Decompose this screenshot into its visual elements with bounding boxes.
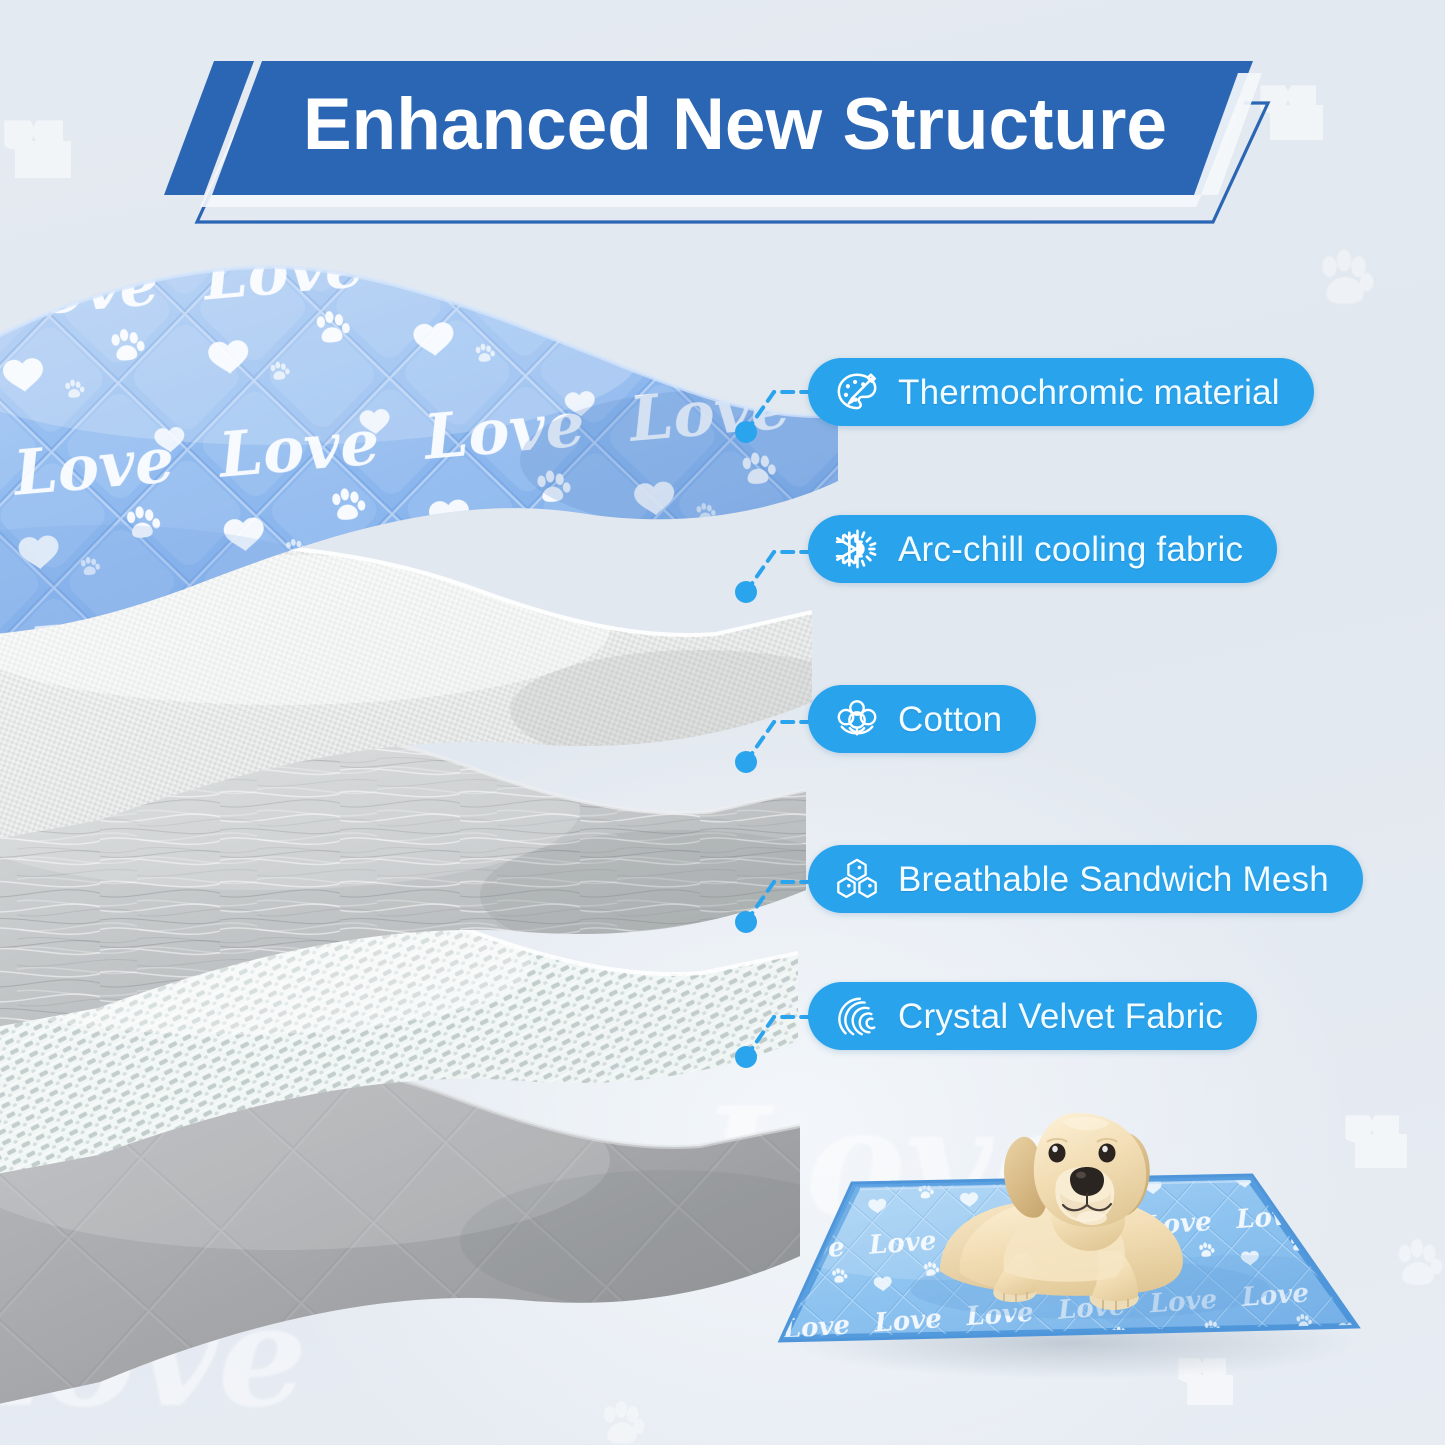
callout-label: Breathable Sandwich Mesh bbox=[898, 862, 1329, 897]
infographic-canvas: Love Love Enhanced New Structure bbox=[0, 0, 1445, 1445]
callout-crystal-velvet[interactable]: Crystal Velvet Fabric bbox=[808, 982, 1257, 1050]
puppy-head bbox=[1004, 1113, 1150, 1227]
product-photo-dog-on-mat: Love bbox=[760, 1075, 1445, 1445]
callout-label: Cotton bbox=[898, 702, 1002, 737]
callout-label: Arc-chill cooling fabric bbox=[898, 532, 1243, 567]
paw-watermark bbox=[1312, 246, 1378, 312]
callout-label: Thermochromic material bbox=[898, 375, 1280, 410]
cotton-boll-icon bbox=[834, 696, 880, 742]
callout-label: Crystal Velvet Fabric bbox=[898, 999, 1223, 1034]
swirl-icon bbox=[834, 993, 880, 1039]
eye-right bbox=[1099, 1144, 1116, 1163]
header-banner: Enhanced New Structure bbox=[0, 55, 1445, 230]
honeycomb-icon bbox=[834, 856, 880, 902]
callout-cotton[interactable]: Cotton bbox=[808, 685, 1036, 753]
callout-arc-chill[interactable]: Arc-chill cooling fabric bbox=[808, 515, 1277, 583]
palette-icon bbox=[834, 369, 880, 415]
callout-sandwich-mesh[interactable]: Breathable Sandwich Mesh bbox=[808, 845, 1363, 913]
callout-thermochromic[interactable]: Thermochromic material bbox=[808, 358, 1314, 426]
eye-left bbox=[1049, 1144, 1066, 1163]
snowflake-sun-icon bbox=[834, 526, 880, 572]
layer-thermochromic-top: Love bbox=[0, 245, 880, 645]
page-title: Enhanced New Structure bbox=[303, 84, 1167, 165]
